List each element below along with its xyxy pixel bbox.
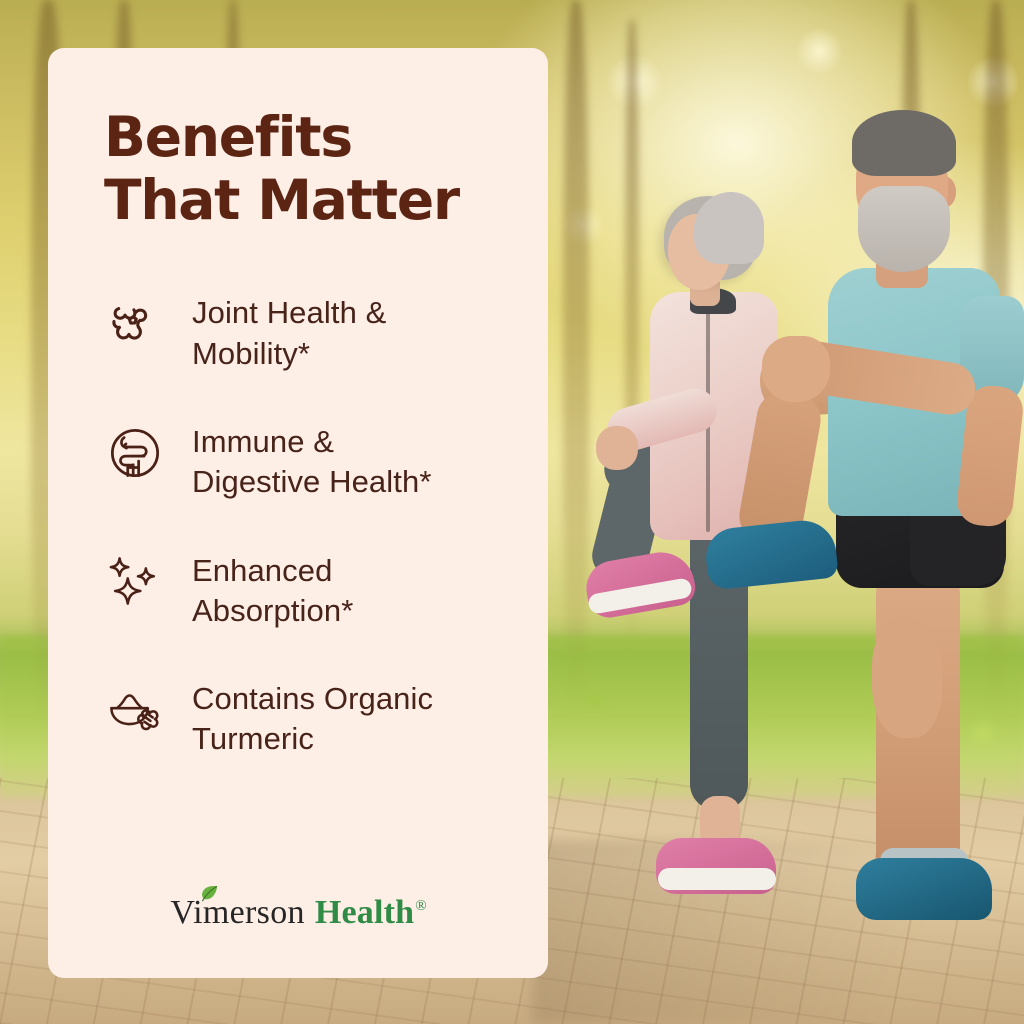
benefits-list: Joint Health & Mobility* Immune & Digest… xyxy=(104,291,504,759)
woman-hand xyxy=(596,426,638,470)
benefits-card: Benefits That Matter Joint Health & Mobi… xyxy=(48,48,548,978)
brand-logo: Vimerson Health ® xyxy=(98,894,498,932)
logo-word-health: Health xyxy=(315,894,414,932)
woman-hair-top xyxy=(694,192,764,264)
logo-word-vimerson: Vimerson xyxy=(170,894,304,932)
intestine-circle-icon xyxy=(104,422,166,484)
man-beard xyxy=(858,186,950,272)
benefit-label: Immune & Digestive Health* xyxy=(192,420,431,503)
page-title: Benefits That Matter xyxy=(104,106,504,231)
benefit-item-organic-turmeric: Contains Organic Turmeric xyxy=(104,677,504,760)
man-hair xyxy=(852,110,956,176)
benefit-label: Joint Health & Mobility* xyxy=(192,291,386,374)
man-hand xyxy=(762,336,830,402)
man-shoe-standing xyxy=(856,858,992,920)
registered-trademark-symbol: ® xyxy=(415,898,426,915)
benefit-label: Enhanced Absorption* xyxy=(192,549,353,632)
benefit-item-joint-health: Joint Health & Mobility* xyxy=(104,291,504,374)
woman-shoe-sole xyxy=(658,868,776,890)
benefit-item-enhanced-absorption: Enhanced Absorption* xyxy=(104,549,504,632)
tree-trunk xyxy=(563,0,589,717)
benefit-label: Contains Organic Turmeric xyxy=(192,677,433,760)
leaf-icon xyxy=(197,885,219,902)
man-calf xyxy=(872,618,942,738)
joint-bone-icon xyxy=(104,293,166,355)
sparkles-icon xyxy=(104,551,166,613)
turmeric-bowl-icon xyxy=(104,679,166,741)
benefit-item-immune-digestive: Immune & Digestive Health* xyxy=(104,420,504,503)
